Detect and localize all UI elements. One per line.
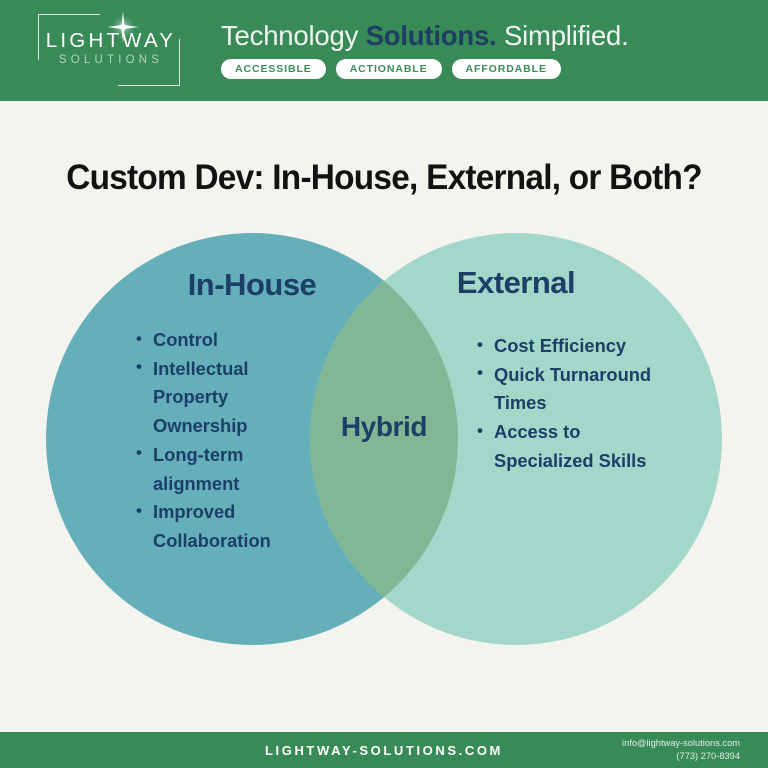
venn-diagram: In-House External Hybrid Control Intelle…: [0, 233, 768, 645]
list-item: Intellectual Property Ownership: [136, 355, 312, 441]
list-item: Long-term alignment: [136, 441, 312, 498]
badge-actionable[interactable]: ACTIONABLE: [336, 59, 442, 79]
list-item: Control: [136, 326, 312, 355]
footer-phone[interactable]: (773) 270-8394: [622, 750, 740, 763]
list-item: Cost Efficiency: [477, 332, 662, 361]
in-house-benefit-list: Control Intellectual Property Ownership …: [136, 326, 312, 556]
page-title: Custom Dev: In-House, External, or Both?: [23, 157, 745, 198]
tagline-part-2: Solutions.: [366, 20, 497, 51]
venn-label-external: External: [408, 267, 624, 298]
list-item: Improved Collaboration: [136, 498, 312, 555]
list-item: Access to Specialized Skills: [477, 418, 662, 475]
footer-email[interactable]: info@lightway-solutions.com: [622, 737, 740, 750]
tagline-part-1: Technology: [221, 20, 366, 51]
logo-wordmark: LIGHTWAY: [41, 31, 181, 52]
header-badges: ACCESSIBLE ACTIONABLE AFFORDABLE: [221, 59, 768, 79]
list-item: Quick Turnaround Times: [477, 361, 662, 418]
header-tagline-block: Technology Solutions. Simplified. ACCESS…: [221, 22, 768, 80]
logo-subtext: SOLUTIONS: [41, 55, 181, 67]
external-benefit-list: Cost Efficiency Quick Turnaround Times A…: [477, 332, 662, 476]
venn-label-hybrid: Hybrid: [306, 413, 462, 441]
page-header: LIGHTWAY SOLUTIONS Technology Solutions.…: [0, 0, 768, 101]
footer-contact-block: info@lightway-solutions.com (773) 270-83…: [622, 737, 740, 764]
badge-accessible[interactable]: ACCESSIBLE: [221, 59, 326, 79]
tagline-part-3: Simplified.: [497, 20, 629, 51]
badge-affordable[interactable]: AFFORDABLE: [452, 59, 561, 79]
page-footer: LIGHTWAY-SOLUTIONS.COM info@lightway-sol…: [0, 732, 768, 768]
brand-logo[interactable]: LIGHTWAY SOLUTIONS: [22, 6, 197, 96]
venn-label-in-house: In-House: [144, 269, 360, 300]
tagline: Technology Solutions. Simplified.: [221, 22, 768, 51]
